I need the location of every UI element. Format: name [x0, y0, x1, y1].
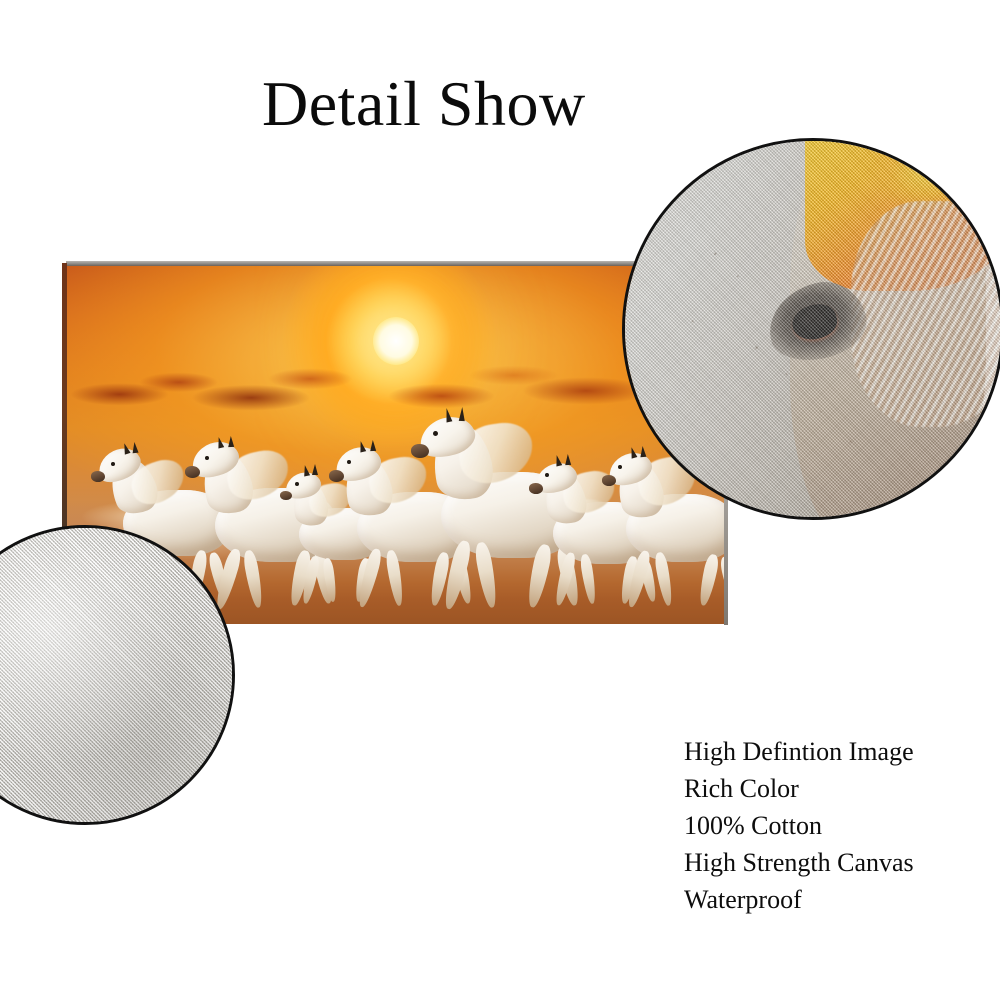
horse-leg-2: [322, 557, 338, 602]
page-title: Detail Show: [262, 68, 586, 140]
horse-leg-1: [355, 547, 383, 608]
horse-eye: [295, 482, 299, 486]
horse-ear-right: [131, 441, 138, 453]
horse-muzzle: [91, 471, 105, 482]
horse-ear-right: [228, 436, 234, 447]
feature-item-strength-canvas: High Strength Canvas: [684, 844, 984, 881]
canvas-weave-shading: [0, 528, 232, 822]
feature-item-hd-image: High Defintion Image: [684, 733, 984, 770]
horse-muzzle: [602, 475, 616, 486]
horse-ear-right: [370, 440, 376, 451]
feature-item-cotton: 100% Cotton: [684, 807, 984, 844]
horse-ear-right: [312, 464, 318, 475]
horse-ear-left: [554, 454, 562, 466]
horse-muzzle: [411, 444, 429, 458]
horse-leg-1: [441, 539, 473, 611]
horse-muzzle: [529, 483, 543, 494]
horse-leg-1: [300, 555, 321, 604]
horse-ear-left: [302, 464, 310, 476]
horse-eye: [347, 460, 351, 464]
horse-ear-right: [565, 454, 571, 465]
feature-item-rich-color: Rich Color: [684, 770, 984, 807]
horse-muzzle: [185, 466, 200, 478]
detail-circle-horse-eye[interactable]: [622, 138, 1000, 520]
horse-leg-1: [625, 549, 653, 608]
feature-item-waterproof: Waterproof: [684, 881, 984, 918]
horse-ear-left: [216, 436, 224, 448]
horse-eye: [433, 431, 438, 436]
horse-ear-left: [358, 440, 366, 452]
feature-list: High Defintion Image Rich Color 100% Cot…: [684, 733, 984, 918]
horse-ear-right: [459, 407, 465, 421]
horse-eye: [111, 462, 115, 466]
horse-leg-4: [719, 555, 724, 604]
horse-eye: [618, 465, 622, 469]
horse-eye-closeup-art: [625, 141, 1000, 517]
horse-eye: [545, 473, 549, 477]
horse-muzzle: [280, 491, 292, 500]
horse-eye: [205, 456, 209, 460]
detail-circle-canvas-weave[interactable]: [0, 525, 235, 825]
horse-leg-1: [553, 551, 578, 606]
horse-muzzle: [329, 470, 344, 482]
